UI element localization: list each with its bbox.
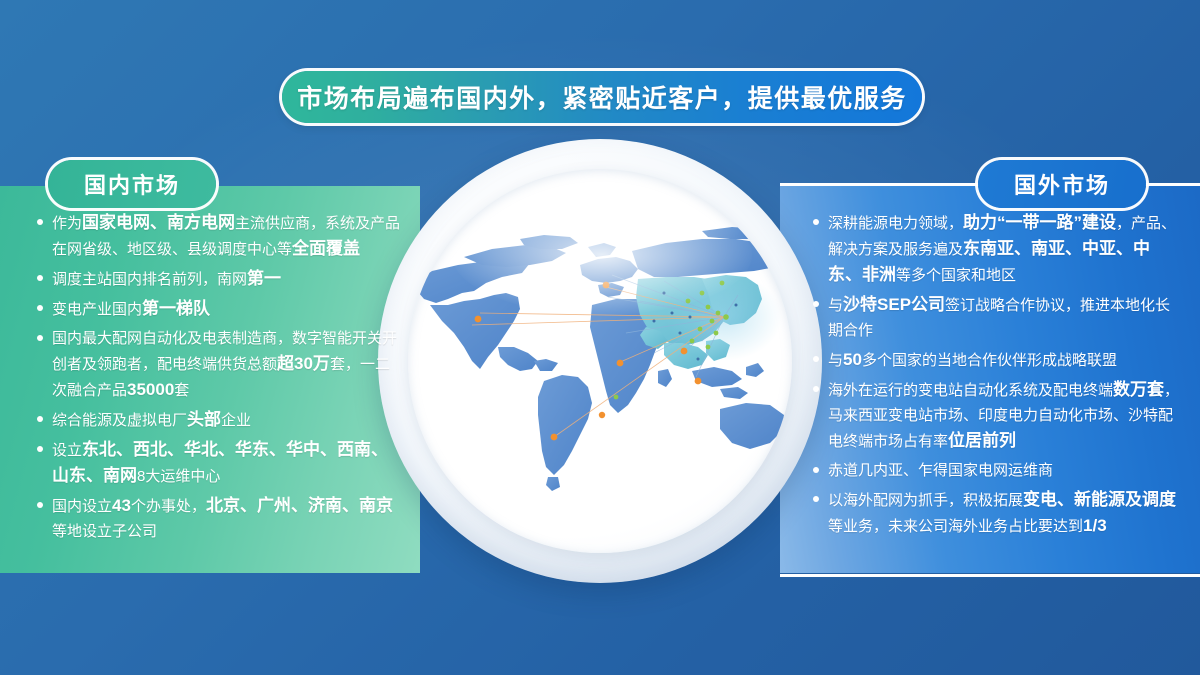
world-globe: [378, 139, 822, 593]
bullet-emphasis: 位居前列: [948, 431, 1016, 450]
bullet-emphasis: 超30万: [277, 354, 330, 373]
bullet-item: 以海外配网为抓手，积极拓展变电、新能源及调度等业务，未来公司海外业务占比要达到1…: [812, 487, 1180, 539]
bullet-text: 设立: [52, 442, 82, 459]
bullet-item: 国内设立43个办事处，北京、广州、济南、南京等地设立子公司: [36, 493, 402, 544]
overseas-bullet-list: 深耕能源电力领域，助力“一带一路”建设，产品、解决方案及服务遍及东南亚、南亚、中…: [812, 210, 1180, 543]
bullet-text: 等业务，未来公司海外业务占比要达到: [828, 518, 1083, 535]
bullet-emphasis: 全面覆盖: [292, 239, 360, 258]
bullet-emphasis: 1/3: [1083, 516, 1107, 535]
bullet-emphasis: 43: [112, 496, 131, 515]
bullet-text: 调度主站国内排名前列，南网: [52, 271, 247, 288]
bullet-emphasis: 50: [843, 350, 862, 369]
map-land-russia: [632, 227, 790, 277]
bullet-text: 与: [828, 297, 843, 314]
bullet-item: 综合能源及虚拟电厂头部企业: [36, 407, 402, 433]
map-land-southeast-asia: [692, 363, 764, 399]
section-pill-domestic: 国内市场: [48, 160, 216, 208]
globe-inner-disc: [408, 169, 792, 553]
bullet-item: 设立东北、西北、华北、华东、华中、西南、山东、南网8大运维中心: [36, 437, 402, 489]
bullet-text: 变电产业国内: [52, 301, 142, 318]
bullet-emphasis: 35000: [127, 380, 174, 399]
bullet-emphasis: 第一: [247, 269, 281, 288]
section-pill-domestic-label: 国内市场: [84, 168, 180, 200]
slide-title-pill: 市场布局遍布国内外，紧密贴近客户，提供最优服务: [282, 71, 922, 123]
domestic-bullet-list: 作为国家电网、南方电网主流供应商，系统及产品在网省级、地区级、县级调度中心等全面…: [36, 210, 402, 548]
slide-canvas: 市场布局遍布国内外，紧密贴近客户，提供最优服务: [0, 0, 1200, 675]
bullet-emphasis: 国家电网、南方电网: [82, 213, 235, 232]
bullet-text: 国内设立: [52, 498, 112, 515]
bullet-emphasis: 变电、新能源及调度: [1023, 490, 1176, 509]
map-land-north-america: [412, 235, 578, 371]
bullet-text: 海外在运行的变电站自动化系统及配电终端: [828, 382, 1113, 399]
bullet-emphasis: 头部: [187, 410, 221, 429]
bullet-text: 等地设立子公司: [52, 523, 157, 540]
bullet-text: 作为: [52, 215, 82, 232]
bullet-item: 赤道几内亚、乍得国家电网运维商: [812, 458, 1180, 483]
bullet-item: 调度主站国内排名前列，南网第一: [36, 266, 402, 292]
bullet-text: 综合能源及虚拟电厂: [52, 412, 187, 429]
bullet-emphasis: 助力“一带一路”建设: [963, 213, 1116, 232]
bullet-text: 个办事处，: [131, 498, 206, 515]
world-map-svg: [408, 221, 792, 503]
map-land-south-america: [538, 375, 592, 491]
bullet-emphasis: 数万套: [1113, 380, 1164, 399]
bullet-text: 8大运维中心: [137, 468, 220, 485]
bullet-text: 赤道几内亚、乍得国家电网运维商: [828, 462, 1053, 479]
bullet-item: 深耕能源电力领域，助力“一带一路”建设，产品、解决方案及服务遍及东南亚、南亚、中…: [812, 210, 1180, 288]
bullet-text: 套: [174, 382, 189, 399]
bullet-text: 企业: [221, 412, 251, 429]
bullet-text: 多个国家的当地合作伙伴形成战略联盟: [862, 352, 1117, 369]
bullet-text: 与: [828, 352, 843, 369]
bullet-emphasis: 沙特SEP公司: [843, 295, 945, 314]
bullet-item: 与沙特SEP公司签订战略合作协议，推进本地化长期合作: [812, 292, 1180, 343]
bullet-item: 海外在运行的变电站自动化系统及配电终端数万套，马来西亚变电站市场、印度电力自动化…: [812, 377, 1180, 454]
section-pill-overseas-label: 国外市场: [1014, 168, 1110, 200]
slide-title-text: 市场布局遍布国内外，紧密贴近客户，提供最优服务: [297, 79, 907, 115]
map-land-australia: [720, 403, 790, 465]
bullet-item: 作为国家电网、南方电网主流供应商，系统及产品在网省级、地区级、县级调度中心等全面…: [36, 210, 402, 262]
section-pill-overseas: 国外市场: [978, 160, 1146, 208]
bullet-text: 等多个国家和地区: [896, 267, 1016, 284]
bullet-item: 国内最大配网自动化及电表制造商，数字智能开关开创者及领跑者，配电终端供货总额超3…: [36, 326, 402, 403]
bullet-emphasis: 第一梯队: [142, 299, 210, 318]
map-land-europe: [580, 243, 638, 297]
bullet-item: 变电产业国内第一梯队: [36, 296, 402, 322]
bullet-text: 以海外配网为抓手，积极拓展: [828, 492, 1023, 509]
bullet-item: 与50多个国家的当地合作伙伴形成战略联盟: [812, 347, 1180, 373]
bullet-text: 深耕能源电力领域，: [828, 215, 963, 232]
bullet-emphasis: 北京、广州、济南、南京: [206, 496, 393, 515]
